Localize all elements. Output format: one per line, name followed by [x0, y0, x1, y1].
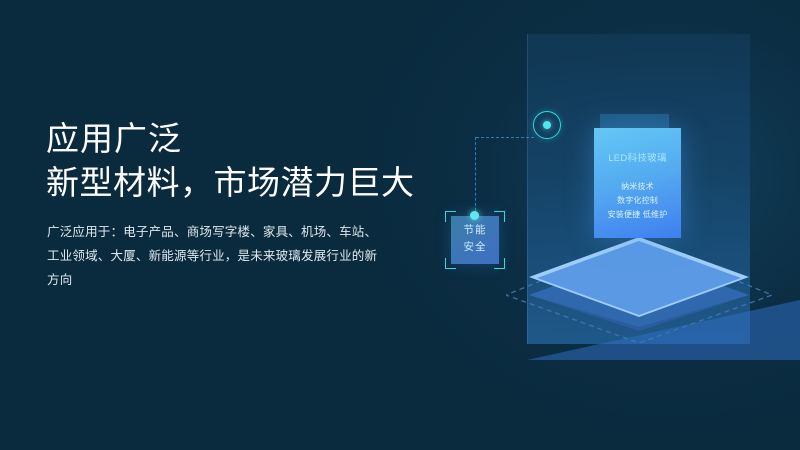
body-paragraph: 广泛应用于：电子产品、商场写字楼、家具、机场、车站、工业领域、大厦、新能源等行业…: [47, 220, 379, 292]
connector-line-vertical: [475, 137, 476, 216]
page-title: 应用广泛 新型材料，市场潜力巨大: [46, 117, 415, 205]
page-title-line2: 新型材料，市场潜力巨大: [46, 161, 415, 205]
connector-line-horizontal: [476, 137, 534, 138]
tag-bracket-bottom-right-icon: [494, 258, 505, 269]
tag-bracket-top-right-icon: [494, 211, 505, 222]
slide-canvas: LED科技玻璃 纳米技术 数字化控制 安装便捷 低维护 节能 安全 应用广泛 新…: [0, 0, 800, 450]
product-title: LED科技玻璃: [594, 150, 681, 164]
tag-anchor-dot-icon: [470, 211, 479, 220]
tag-label-line1: 节能: [451, 222, 499, 239]
page-title-line1: 应用广泛: [46, 117, 415, 161]
product-feature-item: 安装便捷 低维护: [594, 208, 681, 222]
tag-label-line2: 安全: [451, 239, 499, 256]
product-feature-list: 纳米技术 数字化控制 安装便捷 低维护: [594, 180, 681, 222]
isometric-base: [506, 233, 772, 343]
tag-bracket-top-left-icon: [445, 211, 456, 222]
isometric-base-svg: [506, 233, 772, 343]
tag-box-label: 节能 安全: [451, 222, 499, 256]
node-center-dot-icon: [543, 121, 551, 129]
product-feature-item: 数字化控制: [594, 194, 681, 208]
product-header-bar: [600, 114, 669, 129]
product-feature-item: 纳米技术: [594, 180, 681, 194]
tag-bracket-bottom-left-icon: [445, 258, 456, 269]
